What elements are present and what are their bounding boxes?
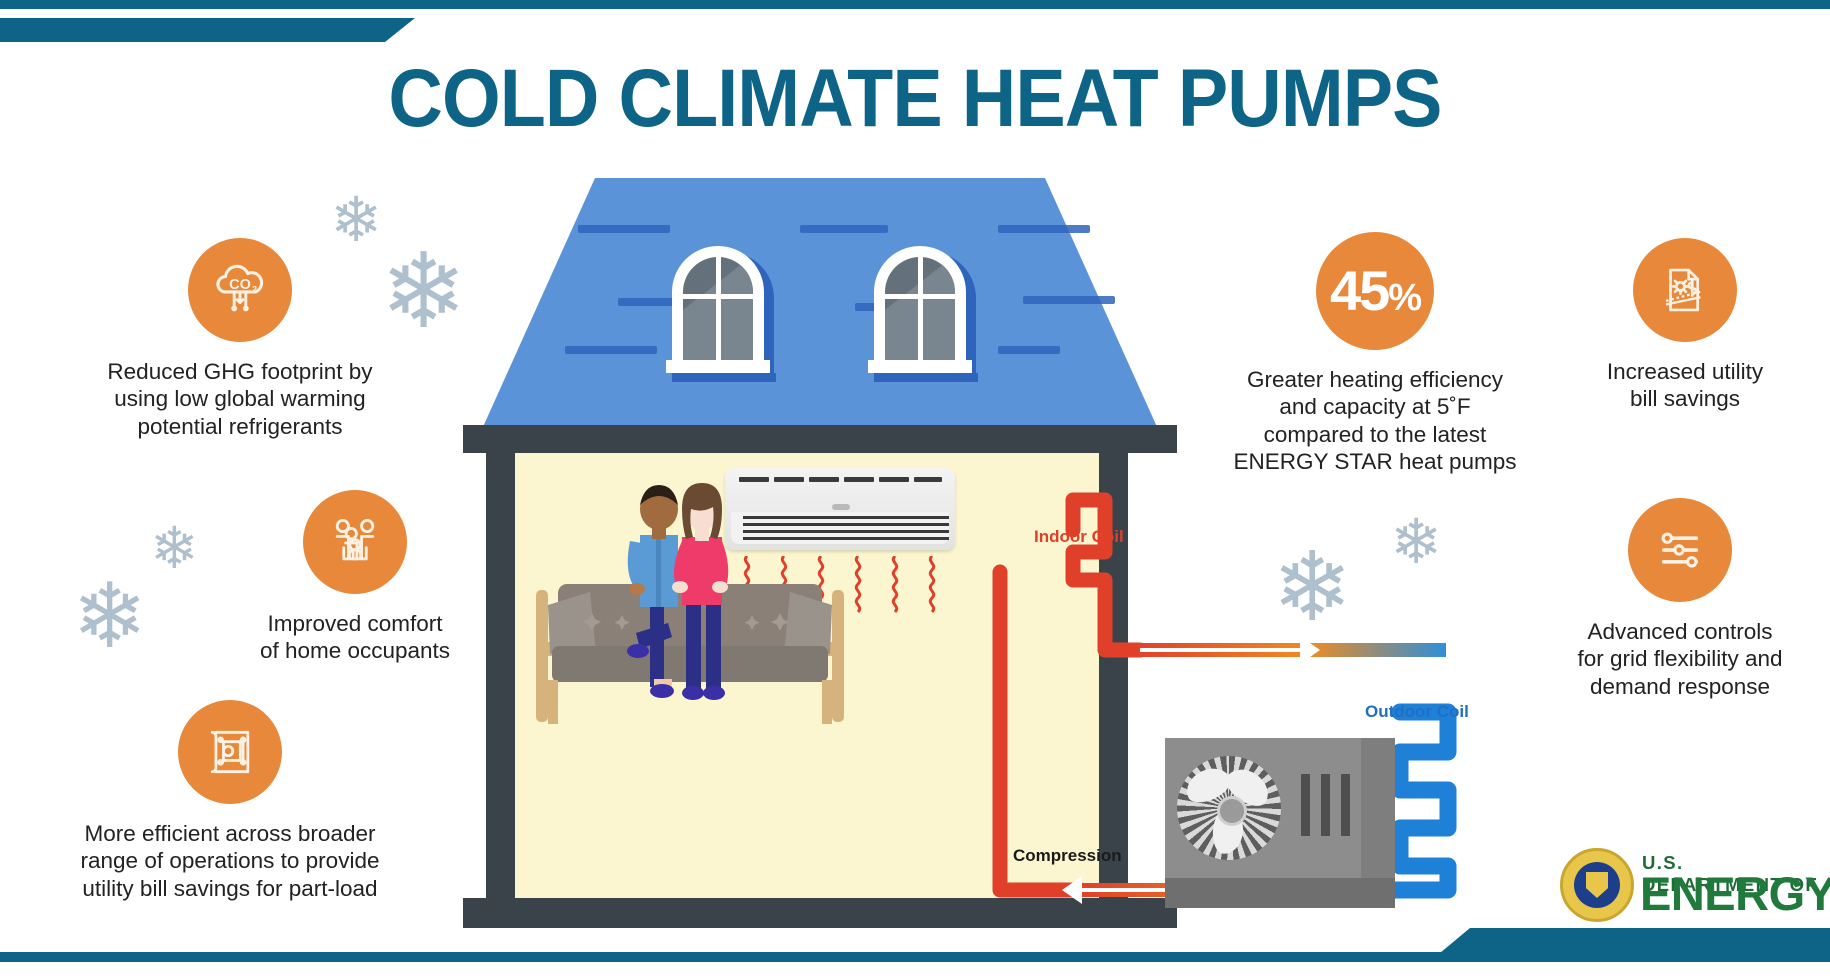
utility-bill-savings-icon xyxy=(1656,261,1714,319)
feature-45-percent: 45% Greater heating efficiency and capac… xyxy=(1215,232,1535,476)
compression-label: Compression xyxy=(1013,846,1122,866)
window-sill-shadow xyxy=(672,373,776,382)
house-diagram xyxy=(470,178,1170,938)
person-right xyxy=(672,483,728,700)
caption-line: bill savings xyxy=(1545,385,1825,412)
snowflake-icon: ❄ xyxy=(1390,512,1442,574)
page-title: COLD CLIMATE HEAT PUMPS xyxy=(73,52,1757,146)
caption-line: potential refrigerants xyxy=(80,413,400,440)
unit-vent xyxy=(739,477,769,482)
caption-line: Increased utility xyxy=(1545,358,1825,385)
hot-to-outdoor-run xyxy=(1136,643,1446,657)
feature-advanced-controls: Advanced controls for grid flexibility a… xyxy=(1530,498,1830,700)
roof-detail-line xyxy=(800,225,888,233)
caption-line: Advanced controls xyxy=(1530,618,1830,645)
condenser-vent xyxy=(1321,774,1330,836)
blueprint-schematic-icon-circle xyxy=(178,700,282,804)
caption-line: and capacity at 5˚F xyxy=(1215,393,1535,420)
percent-value: 45% xyxy=(1330,263,1420,319)
condenser-vent xyxy=(1301,774,1310,836)
unit-vent xyxy=(809,477,839,482)
caption-line: compared to the latest xyxy=(1215,421,1535,448)
outdoor-condenser-unit xyxy=(1165,738,1395,908)
roof xyxy=(470,178,1170,438)
indoor-coil-label: Indoor Coil xyxy=(1034,527,1124,547)
svg-text:CO: CO xyxy=(229,277,251,293)
blueprint-schematic-icon xyxy=(200,722,260,782)
unit-louvre xyxy=(743,537,949,540)
top-left-wedge-bar xyxy=(0,18,415,42)
caption-line: of home occupants xyxy=(205,637,505,664)
window-mullion xyxy=(918,257,923,361)
snowflake-icon: ❄ xyxy=(72,572,147,662)
caption-line: range of operations to provide xyxy=(60,847,400,874)
caption-line: More efficient across broader xyxy=(60,820,400,847)
feature-caption: Improved comfort of home occupants xyxy=(205,610,505,665)
feature-utility-savings: Increased utility bill savings xyxy=(1545,238,1825,413)
doe-agency-name: ENERGY xyxy=(1640,870,1830,917)
unit-louvre xyxy=(743,516,949,519)
doe-seal-inner xyxy=(1574,862,1620,908)
caption-line: Greater heating efficiency xyxy=(1215,366,1535,393)
caption-line: for grid flexibility and xyxy=(1530,645,1830,672)
feature-caption: More efficient across broader range of o… xyxy=(60,820,400,902)
floor-slab xyxy=(463,898,1177,928)
percent-badge: 45% xyxy=(1316,232,1434,350)
roof-detail-line xyxy=(578,225,670,233)
caption-line: Reduced GHG footprint by xyxy=(80,358,400,385)
snowflake-icon: ❄ xyxy=(150,520,199,578)
family-group-icon xyxy=(325,512,385,572)
sliders-controls-icon xyxy=(1651,521,1709,579)
unit-indicator-light xyxy=(832,504,850,510)
condenser-fan xyxy=(1177,756,1281,860)
unit-louvre xyxy=(743,523,949,526)
feature-reduced-ghg: CO 2 Reduced GHG footprint by using low … xyxy=(80,238,400,440)
feature-caption: Advanced controls for grid flexibility a… xyxy=(1530,618,1830,700)
feature-caption: Reduced GHG footprint by using low globa… xyxy=(80,358,400,440)
co2-cloud-icon: CO 2 xyxy=(209,259,271,321)
doe-shield-icon xyxy=(1586,872,1608,898)
unit-louvre xyxy=(743,530,949,533)
seated-occupants xyxy=(610,483,760,733)
family-group-icon-circle xyxy=(303,490,407,594)
doe-logo: U.S. DEPARTMENT OF ENERGY xyxy=(1560,840,1820,926)
sliders-controls-icon-circle xyxy=(1628,498,1732,602)
roof-detail-line xyxy=(618,298,674,306)
feature-caption: Greater heating efficiency and capacity … xyxy=(1215,366,1535,476)
co2-cloud-icon-circle: CO 2 xyxy=(188,238,292,342)
top-accent-bar xyxy=(0,0,1830,9)
percent-number: 45 xyxy=(1330,259,1388,322)
caption-line: Improved comfort xyxy=(205,610,505,637)
window-sill-shadow xyxy=(874,373,978,382)
caption-line: ENERGY STAR heat pumps xyxy=(1215,448,1535,475)
heat-wave-icon xyxy=(888,556,902,618)
unit-vent xyxy=(774,477,804,482)
window-sill xyxy=(868,360,972,373)
window-sill xyxy=(666,360,770,373)
window-mullion xyxy=(683,294,753,299)
percent-unit: % xyxy=(1388,277,1420,319)
condenser-vent xyxy=(1341,774,1350,836)
roof-detail-line xyxy=(565,346,657,354)
outdoor-coil-label: Outdoor Coil xyxy=(1365,702,1469,722)
heat-wave-icon xyxy=(925,556,939,618)
roof-detail-line xyxy=(998,225,1090,233)
feature-improved-comfort: Improved comfort of home occupants xyxy=(205,490,505,665)
dormer-window xyxy=(874,246,966,374)
unit-vent xyxy=(914,477,942,482)
unit-outlet xyxy=(731,512,949,544)
window-mullion xyxy=(716,257,721,361)
right-wall xyxy=(1099,453,1128,898)
fan-hub xyxy=(1217,796,1247,826)
svg-text:2: 2 xyxy=(252,284,257,294)
roof-detail-line xyxy=(998,346,1060,354)
unit-vent xyxy=(879,477,909,482)
bottom-right-wedge-bar xyxy=(1440,928,1830,953)
heat-wave-icon xyxy=(851,556,865,618)
condenser-body xyxy=(1165,738,1395,878)
window-mullion xyxy=(885,294,955,299)
doe-seal-icon xyxy=(1560,848,1634,922)
bottom-accent-bar xyxy=(0,952,1830,962)
unit-vent xyxy=(844,477,874,482)
roof-detail-line xyxy=(1023,296,1115,304)
utility-bill-savings-icon-circle xyxy=(1633,238,1737,342)
caption-line: demand response xyxy=(1530,673,1830,700)
person-left xyxy=(627,485,678,698)
caption-line: using low global warming xyxy=(80,385,400,412)
feature-caption: Increased utility bill savings xyxy=(1545,358,1825,413)
feature-more-efficient: More efficient across broader range of o… xyxy=(60,700,400,902)
left-wall xyxy=(486,453,515,898)
dormer-window xyxy=(672,246,764,374)
caption-line: utility bill savings for part-load xyxy=(60,875,400,902)
roof-eave xyxy=(463,425,1177,453)
snowflake-icon: ❄ xyxy=(1272,540,1352,636)
condenser-base xyxy=(1165,878,1395,908)
